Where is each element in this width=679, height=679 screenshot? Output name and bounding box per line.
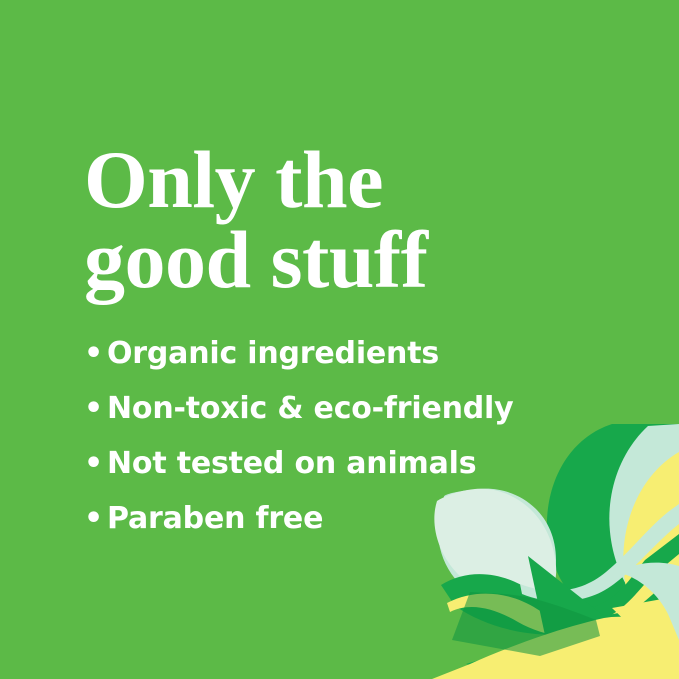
headline-line-1: Only the bbox=[84, 140, 604, 220]
bullet-icon: • bbox=[84, 339, 107, 369]
petal-yellow-upper bbox=[623, 452, 679, 664]
list-item-label: Not tested on animals bbox=[107, 446, 476, 481]
promo-banner: Only the good stuff • Organic ingredient… bbox=[0, 0, 679, 679]
bullet-icon: • bbox=[84, 394, 107, 424]
petal-mint-upper bbox=[609, 424, 679, 637]
headline-line-2: good stuff bbox=[84, 220, 604, 300]
list-item: • Organic ingredients bbox=[84, 336, 604, 391]
list-item: • Not tested on animals bbox=[84, 446, 604, 501]
list-item: • Non-toxic & eco-friendly bbox=[84, 391, 604, 446]
bullet-icon: • bbox=[84, 449, 107, 479]
bullet-icon: • bbox=[84, 504, 107, 534]
wedge-green-centre bbox=[466, 556, 679, 679]
list-item-label: Non-toxic & eco-friendly bbox=[107, 391, 513, 426]
page-title: Only the good stuff bbox=[84, 140, 604, 300]
feature-list: • Organic ingredients • Non-toxic & eco-… bbox=[84, 336, 604, 556]
list-item-label: Paraben free bbox=[107, 501, 323, 536]
shadow-green-bottom bbox=[452, 592, 600, 656]
ribbon-yellow-wave bbox=[447, 554, 679, 636]
petal-yellow-lower-sweep bbox=[432, 617, 679, 679]
blade-yellow-right bbox=[612, 596, 679, 679]
banner-content: Only the good stuff • Organic ingredient… bbox=[84, 140, 604, 556]
accent-mint-heart bbox=[618, 563, 679, 640]
list-item: • Paraben free bbox=[84, 501, 604, 556]
list-item-label: Organic ingredients bbox=[107, 336, 439, 371]
